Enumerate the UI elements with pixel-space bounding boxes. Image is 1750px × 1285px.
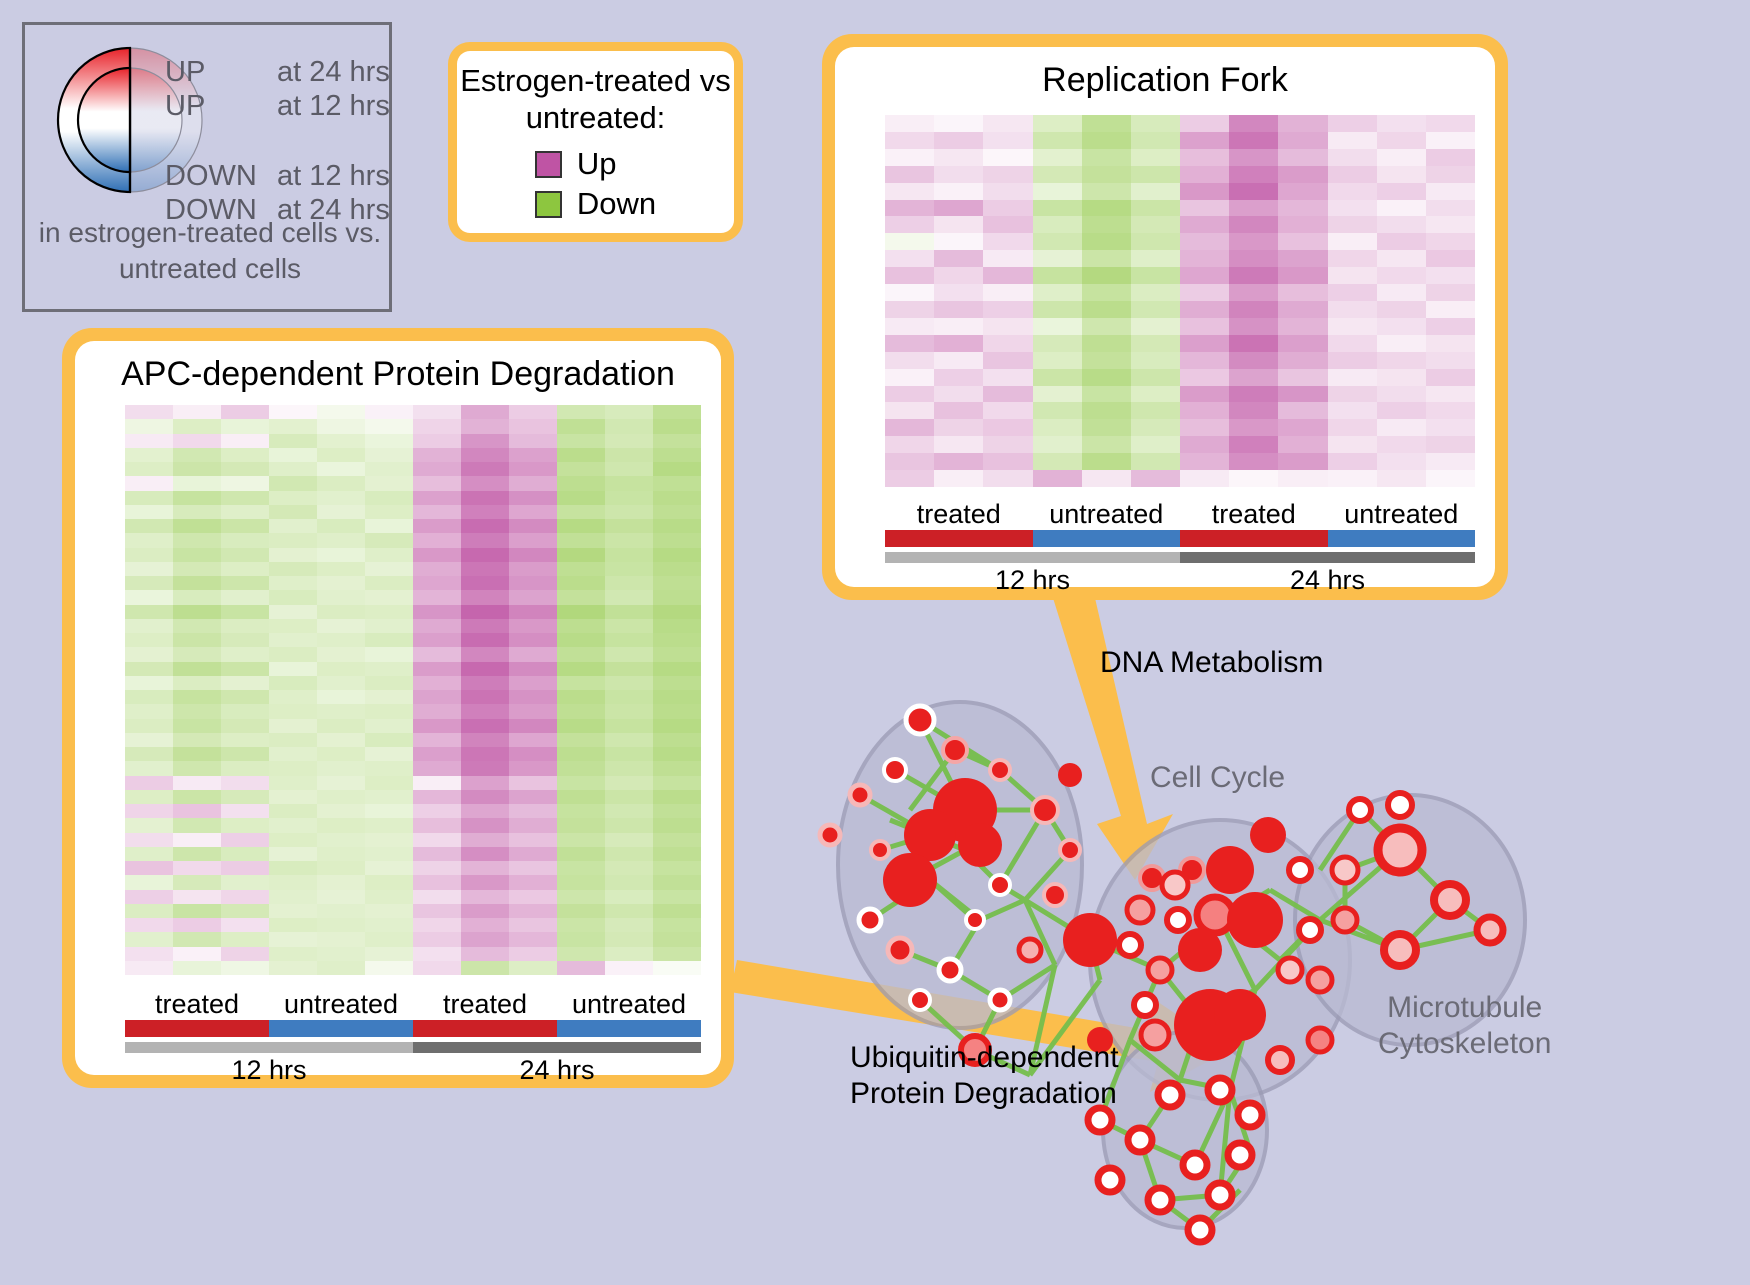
cluster-label-dna-metabolism: DNA Metabolism [1100, 645, 1323, 681]
cluster-label-ubiquitin: Ubiquitin-dependent Protein Degradation [850, 1040, 1119, 1112]
cluster-label-cell-cycle: Cell Cycle [1150, 760, 1285, 796]
gene-network-diagram: DNA Metabolism Cell Cycle Microtubule Cy… [800, 620, 1560, 1280]
cluster-label-microtubule: Microtubule Cytoskeleton [1378, 990, 1551, 1062]
